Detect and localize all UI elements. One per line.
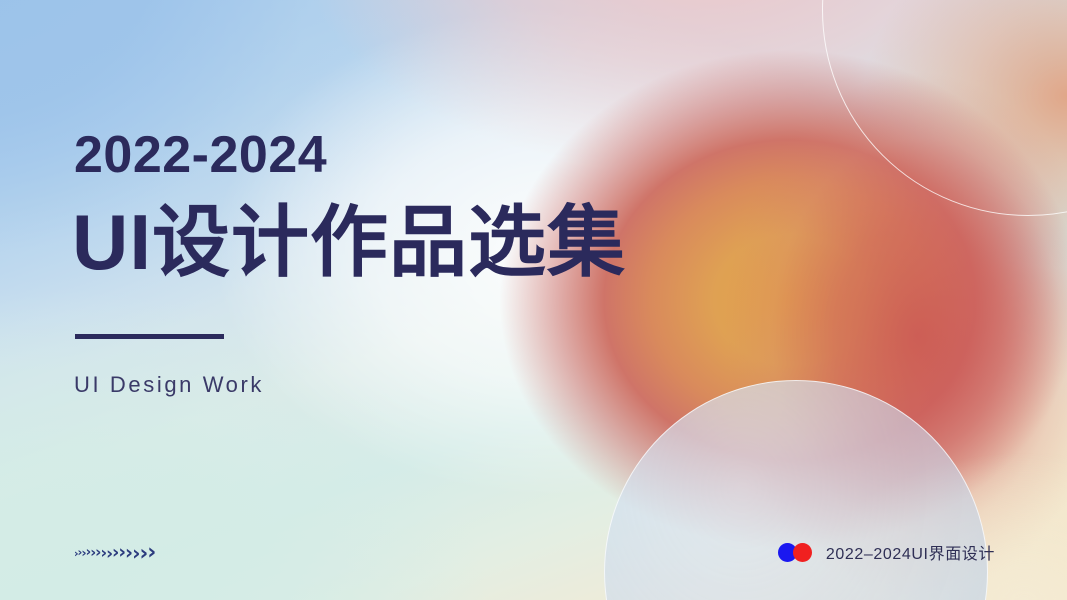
title-block: 2022-2024 UI设计作品选集 UI Design Work bbox=[74, 0, 774, 600]
chevron-arrow-icon-strip: ›››››››››››››› bbox=[74, 540, 155, 566]
poster-canvas: 2022-2024 UI设计作品选集 UI Design Work ››››››… bbox=[0, 0, 1067, 600]
chevron-arrow-icon: › bbox=[147, 542, 156, 564]
brand-logo-icon bbox=[778, 543, 812, 562]
footer-caption-text: 2022–2024UI界面设计 bbox=[826, 540, 995, 564]
red-dot-icon bbox=[793, 543, 812, 562]
year-range-text: 2022-2024 bbox=[74, 129, 327, 181]
title-divider bbox=[75, 334, 224, 339]
footer-brand: 2022–2024UI界面设计 bbox=[778, 540, 995, 564]
subtitle-text: UI Design Work bbox=[74, 372, 264, 398]
circle-outline-top-right bbox=[822, 0, 1067, 216]
page-title: UI设计作品选集 bbox=[72, 200, 626, 284]
